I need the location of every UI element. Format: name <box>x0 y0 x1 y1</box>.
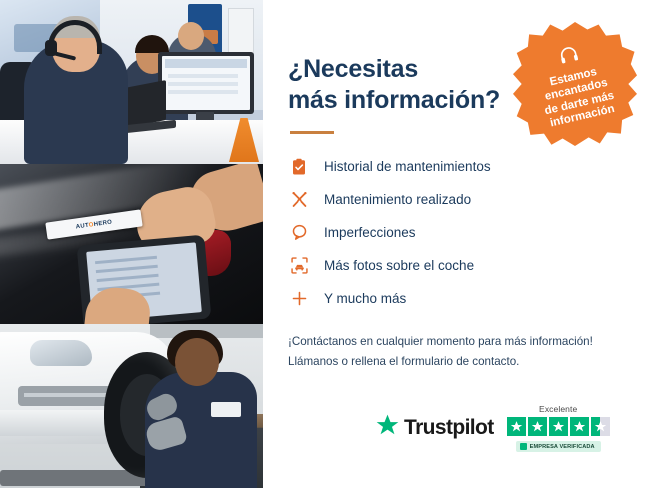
feature-item-more-photos: Más fotos sobre el coche <box>288 249 624 282</box>
feature-item-much-more: Y mucho más <box>288 282 624 315</box>
feature-item-maintenance-history: Historial de mantenimientos <box>288 150 624 183</box>
content-panel: ¿Necesitas más información? Historial de… <box>263 0 650 488</box>
trustpilot-stars <box>507 417 610 436</box>
clipboard-check-icon <box>288 156 310 178</box>
trustpilot-logo[interactable]: Trustpilot <box>375 413 494 443</box>
trustpilot-star-5-half <box>591 417 610 436</box>
wrench-screwdriver-icon <box>288 189 310 211</box>
page-title-line-2: más información? <box>288 86 500 114</box>
car-headlight <box>30 340 92 366</box>
wall-notice <box>228 8 254 54</box>
feature-item-imperfections: Imperfecciones <box>288 216 624 249</box>
support-badge: Estamos encantados de darte más informac… <box>513 22 637 146</box>
feature-list: Historial de mantenimientos Mantenimient… <box>288 150 624 315</box>
background-agent-head <box>178 22 204 50</box>
feature-item-maintenance-done: Mantenimiento realizado <box>288 183 624 216</box>
trustpilot-star-4 <box>570 417 589 436</box>
feature-label: Imperfecciones <box>324 225 416 240</box>
mechanic-uniform-badge <box>211 402 241 417</box>
feature-label: Más fotos sobre el coche <box>324 258 474 273</box>
contact-copy-line-1: ¡Contáctanos en cualquier momento para m… <box>288 335 593 348</box>
mechanic-wheel-photo <box>0 324 263 488</box>
autohero-ruler-logo: AUTOHERO <box>75 219 112 230</box>
title-divider <box>290 131 334 134</box>
feature-label: Y mucho más <box>324 291 406 306</box>
trustpilot-rating[interactable]: Trustpilot Excelente <box>375 404 610 452</box>
car-frame-icon <box>288 255 310 277</box>
contact-copy: ¡Contáctanos en cualquier momento para m… <box>288 332 624 372</box>
page-title-line-1: ¿Necesitas <box>288 55 418 83</box>
verified-company-label: EMPRESA VERIFICADA <box>530 444 595 450</box>
car-inspection-ruler-photo: AUTOHERO <box>0 164 263 324</box>
verified-check-icon <box>520 443 527 450</box>
trustpilot-star-2 <box>528 417 547 436</box>
car-lift-ramp <box>0 470 150 486</box>
feature-label: Historial de mantenimientos <box>324 159 491 174</box>
trustpilot-star-1 <box>507 417 526 436</box>
trustpilot-rating-label: Excelente <box>539 404 577 414</box>
info-banner: AUTOHERO ¿Necesitas <box>0 0 650 488</box>
verified-company-badge: EMPRESA VERIFICADA <box>516 441 601 452</box>
trustpilot-star-3 <box>549 417 568 436</box>
trustpilot-score-block: Excelente <box>507 404 610 452</box>
feature-label: Mantenimiento realizado <box>324 192 471 207</box>
photo-column: AUTOHERO <box>0 0 263 488</box>
contact-copy-line-2: Llámanos o rellena el formulario de cont… <box>288 355 519 368</box>
monitor-screen <box>162 56 250 110</box>
mechanic-head <box>175 338 219 386</box>
trustpilot-star-icon <box>375 413 400 443</box>
trustpilot-wordmark: Trustpilot <box>404 416 494 440</box>
call-center-agents-photo <box>0 0 263 164</box>
speech-bubble-icon <box>288 222 310 244</box>
desktop-monitor <box>158 52 254 114</box>
headset-icon <box>556 42 582 72</box>
plus-icon <box>288 288 310 310</box>
